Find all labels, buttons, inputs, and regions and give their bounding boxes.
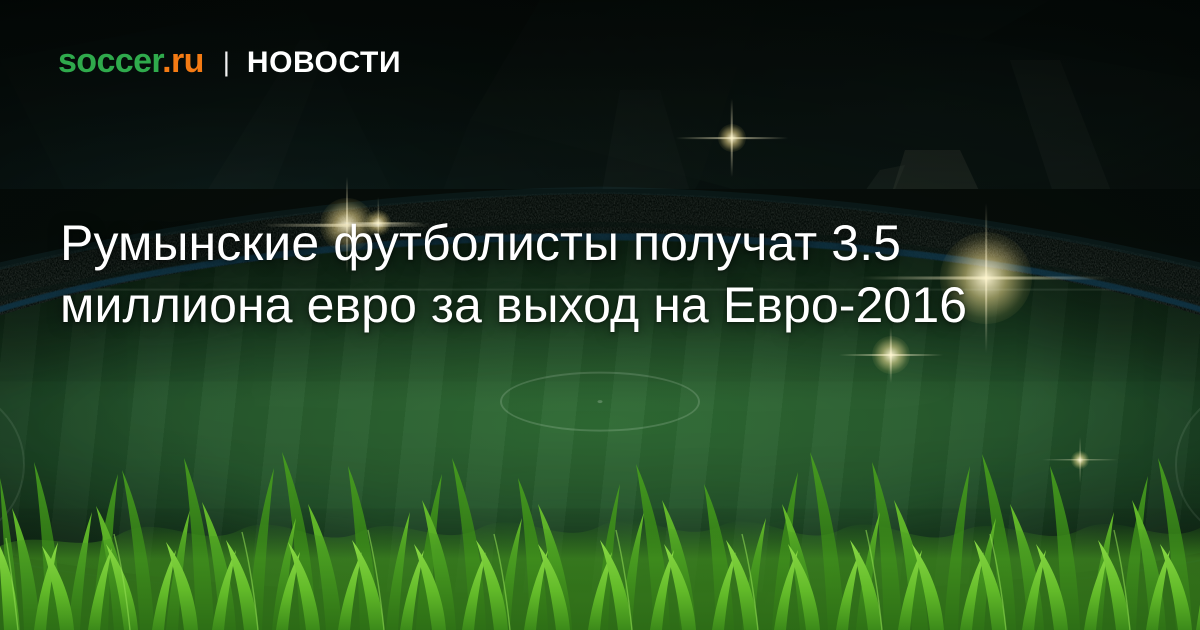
brand-divider: |: [223, 49, 230, 76]
section-label-news[interactable]: НОВОСТИ: [247, 48, 401, 78]
logo-text-soccer: soccer: [58, 42, 162, 80]
content-overlay: soccer.ru | НОВОСТИ Румынские футболисты…: [0, 0, 1200, 630]
site-logo[interactable]: soccer.ru: [58, 44, 204, 78]
logo-text-ru: .ru: [162, 42, 204, 80]
share-card: soccer.ru | НОВОСТИ Румынские футболисты…: [0, 0, 1200, 630]
page-title: Румынские футболисты получат 3.5 миллион…: [60, 212, 1120, 336]
brand-bar[interactable]: soccer.ru | НОВОСТИ: [58, 44, 401, 78]
